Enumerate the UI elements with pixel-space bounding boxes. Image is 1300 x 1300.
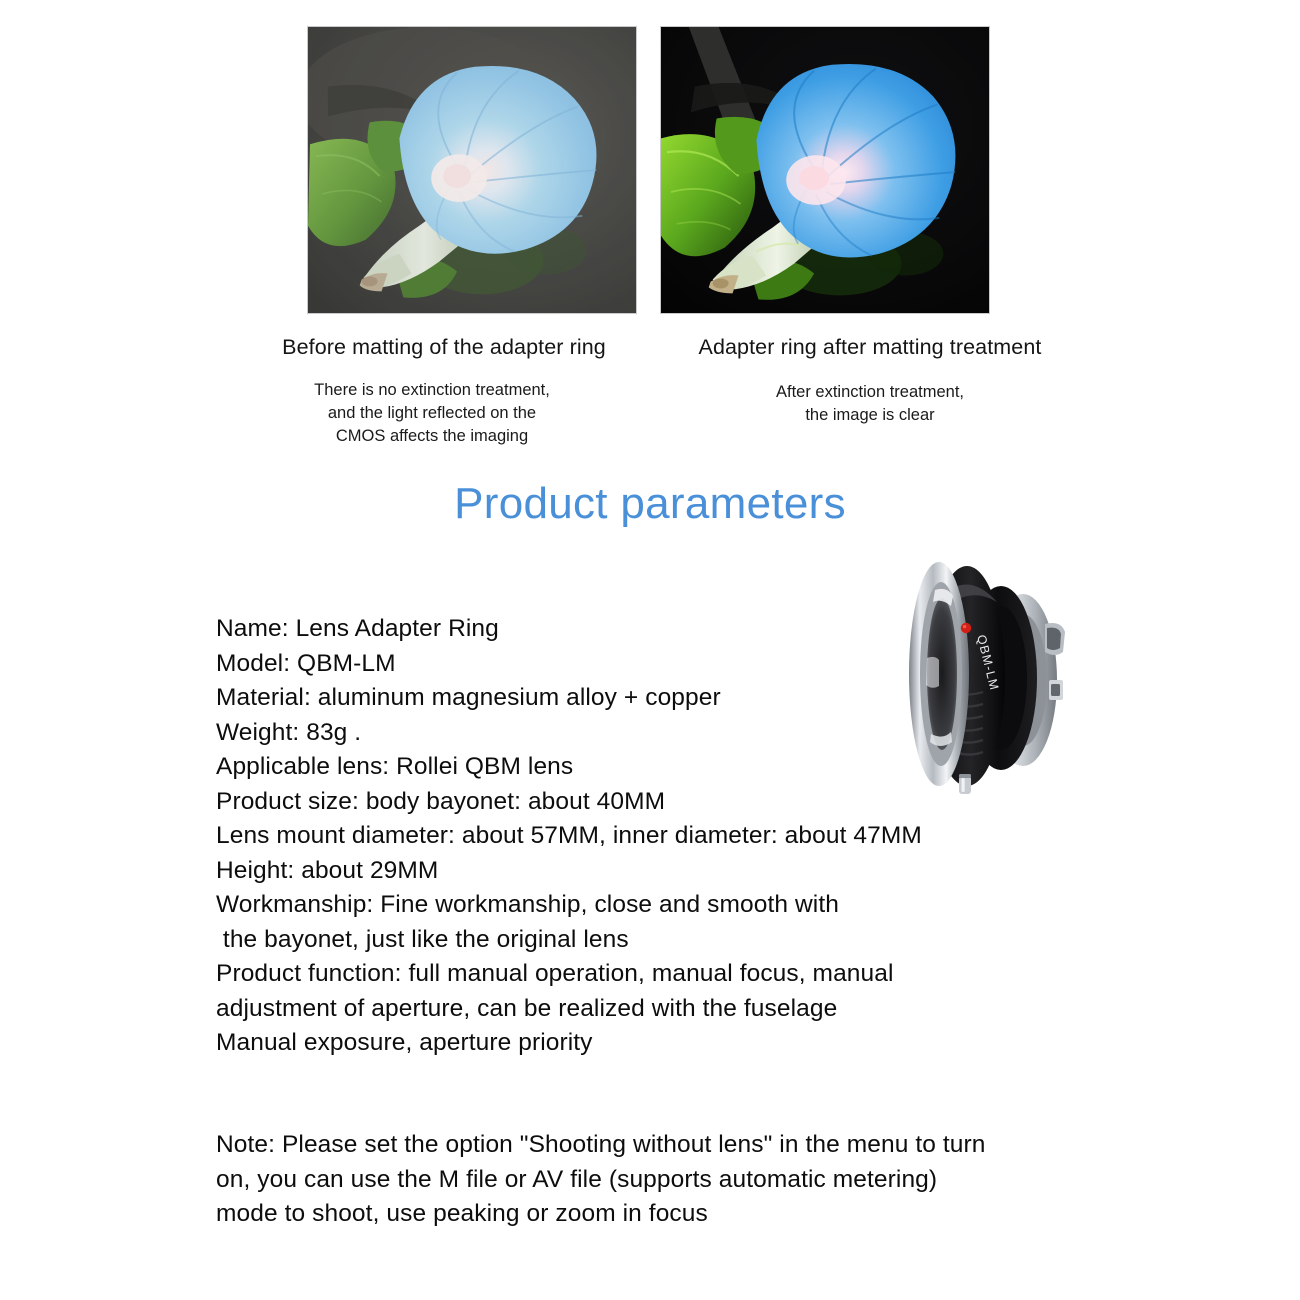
spec-model: Model: QBM-LM xyxy=(216,647,1216,682)
comparison-caption-row: Before matting of the adapter ring Adapt… xyxy=(0,332,1300,368)
page-title: Product parameters xyxy=(0,476,1300,532)
spec-name: Name: Lens Adapter Ring xyxy=(216,612,1216,647)
subcaption-line: and the light reflected on the xyxy=(222,402,642,425)
spec-exposure: Manual exposure, aperture priority xyxy=(216,1026,1216,1061)
subcaption-line: There is no extinction treatment, xyxy=(222,379,642,402)
product-spec-list: Name: Lens Adapter Ring Model: QBM-LM Ma… xyxy=(216,612,1216,1061)
comparison-photo-row xyxy=(0,26,1300,316)
spec-material: Material: aluminum magnesium alloy + cop… xyxy=(216,681,1216,716)
spec-weight: Weight: 83g . xyxy=(216,716,1216,751)
spec-product-size: Product size: body bayonet: about 40MM xyxy=(216,785,1216,820)
spec-workmanship: Workmanship: Fine workmanship, close and… xyxy=(216,888,1216,923)
subcaption-line: After extinction treatment, xyxy=(660,381,1080,404)
photo-before-matting xyxy=(307,26,637,314)
caption-after-matting: Adapter ring after matting treatment xyxy=(660,332,1080,362)
note-line: mode to shoot, use peaking or zoom in fo… xyxy=(216,1197,1201,1232)
subcaption-after-matting: After extinction treatment, the image is… xyxy=(660,381,1080,427)
spec-applicable-lens: Applicable lens: Rollei QBM lens xyxy=(216,750,1216,785)
after-photo-canvas xyxy=(661,27,989,313)
photo-after-matting xyxy=(660,26,990,314)
spec-function-cont: adjustment of aperture, can be realized … xyxy=(216,992,1216,1027)
spec-function: Product function: full manual operation,… xyxy=(216,957,1216,992)
note-line: Note: Please set the option "Shooting wi… xyxy=(216,1128,1201,1163)
spec-mount-diameter: Lens mount diameter: about 57MM, inner d… xyxy=(216,819,1216,854)
caption-before-matting: Before matting of the adapter ring xyxy=(234,332,654,362)
subcaption-line: CMOS affects the imaging xyxy=(222,425,642,448)
before-photo-canvas xyxy=(308,27,636,313)
spec-workmanship-cont: the bayonet, just like the original lens xyxy=(216,923,1216,958)
subcaption-line: the image is clear xyxy=(660,404,1080,427)
usage-note: Note: Please set the option "Shooting wi… xyxy=(216,1128,1201,1232)
note-line: on, you can use the M file or AV file (s… xyxy=(216,1163,1201,1198)
spec-height: Height: about 29MM xyxy=(216,854,1216,889)
subcaption-before-matting: There is no extinction treatment, and th… xyxy=(222,379,642,448)
